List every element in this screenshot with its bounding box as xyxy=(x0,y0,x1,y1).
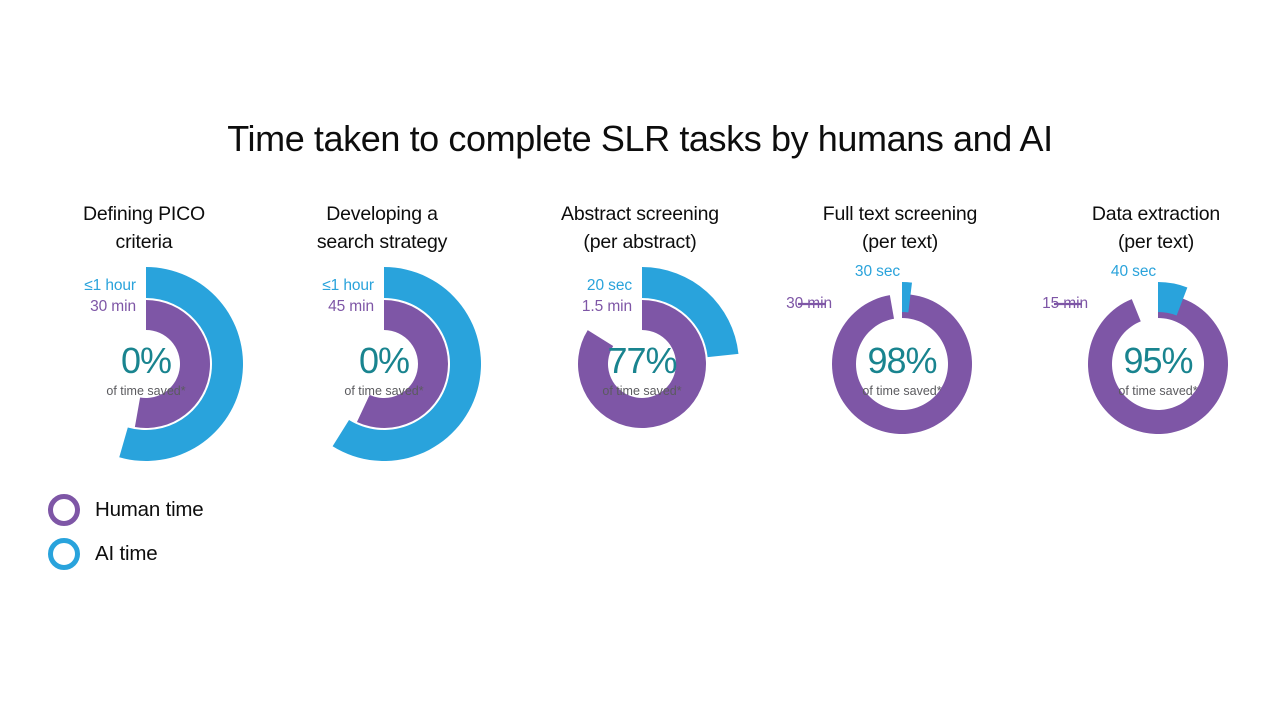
page-title: Time taken to complete SLR tasks by huma… xyxy=(0,118,1280,160)
time-saved-percent: 77% xyxy=(567,343,717,379)
panel-heading-line: (per text) xyxy=(1030,228,1280,256)
legend: Human timeAI time xyxy=(48,488,204,576)
legend-ring-icon xyxy=(48,538,80,570)
panel-heading-line: Data extraction xyxy=(1030,200,1280,228)
donut-panel: Abstract screening(per abstract)20 sec1.… xyxy=(514,200,766,474)
ai-time-label: 30 sec xyxy=(804,262,900,281)
time-saved-percent: 98% xyxy=(827,343,977,379)
panel-heading-line: Developing a xyxy=(256,200,508,228)
time-saved-percent: 0% xyxy=(71,343,221,379)
panel-heading-line: Full text screening xyxy=(774,200,1026,228)
donut-chart: ≤1 hour45 min0%of time saved* xyxy=(256,264,508,474)
panel-heading: Abstract screening(per abstract) xyxy=(514,200,766,256)
ai-time-label: 20 sec xyxy=(518,276,632,295)
donut-panel: Developing asearch strategy≤1 hour45 min… xyxy=(256,200,508,474)
human-time-label: 1.5 min xyxy=(518,297,632,316)
human-time-label: 30 min xyxy=(740,294,832,313)
donut-chart: ≤1 hour30 min0%of time saved* xyxy=(18,264,270,474)
donut-chart: 20 sec1.5 min77%of time saved* xyxy=(514,264,766,474)
time-saved-sublabel: of time saved* xyxy=(309,384,459,398)
time-saved-percent: 95% xyxy=(1083,343,1233,379)
human-time-label: 30 min xyxy=(22,297,136,316)
ai-time-label: ≤1 hour xyxy=(22,276,136,295)
time-saved-sublabel: of time saved* xyxy=(567,384,717,398)
time-saved-percent: 0% xyxy=(309,343,459,379)
legend-item-label: AI time xyxy=(95,542,157,566)
legend-item-human[interactable]: Human time xyxy=(48,488,204,532)
donut-chart: 40 sec15 min95%of time saved* xyxy=(1030,264,1280,474)
ai-time-label: ≤1 hour xyxy=(260,276,374,295)
human-time-label: 45 min xyxy=(260,297,374,316)
time-saved-sublabel: of time saved* xyxy=(1083,384,1233,398)
panel-heading-line: criteria xyxy=(18,228,270,256)
time-saved-sublabel: of time saved* xyxy=(827,384,977,398)
panel-heading-line: Defining PICO xyxy=(18,200,270,228)
legend-ring-icon xyxy=(48,494,80,526)
panel-heading-line: Abstract screening xyxy=(514,200,766,228)
slide-canvas: Time taken to complete SLR tasks by huma… xyxy=(0,0,1280,720)
legend-item-label: Human time xyxy=(95,498,204,522)
donut-panel: Defining PICOcriteria≤1 hour30 min0%of t… xyxy=(18,200,270,474)
panel-heading: Defining PICOcriteria xyxy=(18,200,270,256)
panel-heading: Developing asearch strategy xyxy=(256,200,508,256)
panel-heading: Full text screening(per text) xyxy=(774,200,1026,256)
human-time-label: 15 min xyxy=(996,294,1088,313)
legend-item-ai[interactable]: AI time xyxy=(48,532,204,576)
panel-heading-line: (per text) xyxy=(774,228,1026,256)
donut-panel: Full text screening(per text)30 sec30 mi… xyxy=(774,200,1026,474)
panel-heading-line: (per abstract) xyxy=(514,228,766,256)
time-saved-sublabel: of time saved* xyxy=(71,384,221,398)
donut-chart: 30 sec30 min98%of time saved* xyxy=(774,264,1026,474)
panel-heading: Data extraction(per text) xyxy=(1030,200,1280,256)
donut-panel: Data extraction(per text)40 sec15 min95%… xyxy=(1030,200,1280,474)
ai-time-label: 40 sec xyxy=(1060,262,1156,281)
panel-heading-line: search strategy xyxy=(256,228,508,256)
